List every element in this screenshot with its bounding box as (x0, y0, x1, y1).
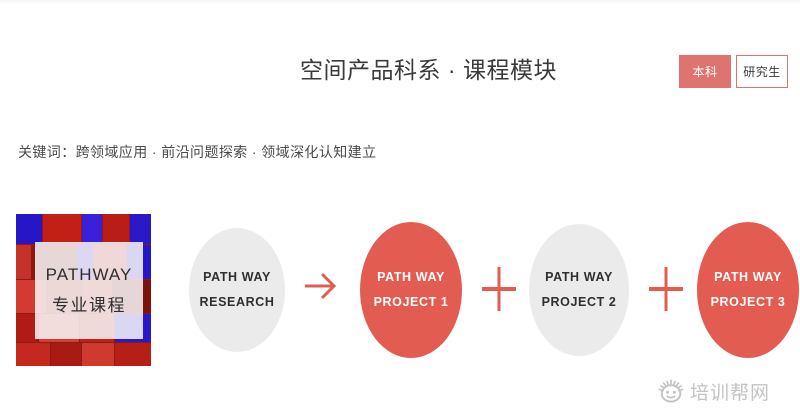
arrow-right-icon (303, 267, 337, 301)
node-pathway-research[interactable]: PATH WAY RESEARCH (189, 228, 285, 352)
pathway-thumbnail[interactable]: PATHWAY 专业课程 (16, 214, 151, 366)
node-line-1: PATH WAY (545, 265, 613, 290)
watermark: 培训帮网 (658, 381, 770, 406)
node-line-1: PATH WAY (377, 265, 445, 290)
thumbnail-title-cn: 专业课程 (52, 291, 126, 316)
node-line-2: RESEARCH (200, 290, 275, 315)
thumbnail-title-en: PATHWAY (46, 265, 133, 285)
node-pathway-project-2[interactable]: PATH WAY PROJECT 2 (529, 224, 629, 356)
node-line-2: PROJECT 1 (374, 290, 449, 315)
plus-icon-2 (647, 265, 685, 313)
node-line-1: PATH WAY (714, 265, 782, 290)
node-line-2: PROJECT 3 (711, 290, 786, 315)
node-line-2: PROJECT 2 (542, 290, 617, 315)
node-pathway-project-3[interactable]: PATH WAY PROJECT 3 (697, 222, 799, 358)
pathway-diagram: PATHWAY 专业课程 PATH WAY RESEARCH PATH WAY … (0, 0, 800, 415)
sun-face-icon (658, 379, 684, 408)
page-root: 空间产品科系 · 课程模块 本科 研究生 关键词：跨领域应用 · 前沿问题探索 … (0, 0, 800, 415)
thumbnail-caption-overlay: PATHWAY 专业课程 (35, 242, 143, 339)
plus-icon-1 (480, 265, 518, 313)
node-pathway-project-1[interactable]: PATH WAY PROJECT 1 (360, 222, 462, 358)
watermark-text: 培训帮网 (690, 381, 770, 406)
node-line-1: PATH WAY (203, 265, 271, 290)
